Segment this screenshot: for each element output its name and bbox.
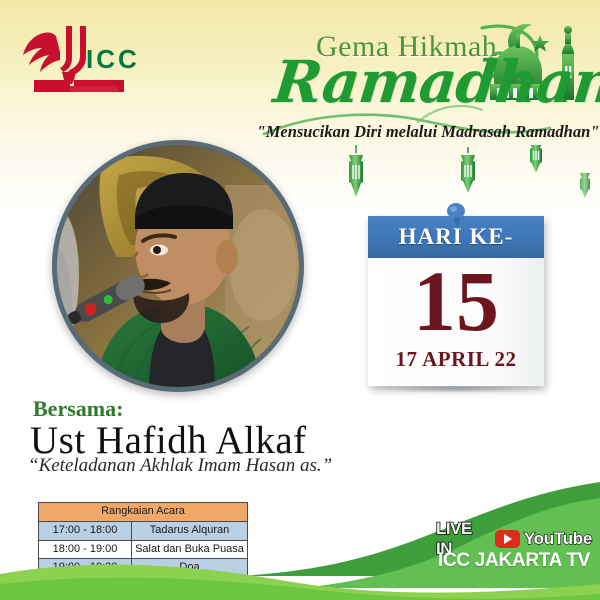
table-header-row: Rangkaian Acara <box>39 503 248 522</box>
calendar-body: 15 17 APRIL 22 <box>368 258 544 386</box>
table-row: 19:30 - selesai Ceramah <box>39 578 248 597</box>
icc-logo: ICC <box>16 22 140 98</box>
svg-text:ICC: ICC <box>86 44 140 74</box>
schedule-activity: Tadarus Alquran <box>132 521 248 540</box>
schedule-table: Rangkaian Acara 17:00 - 18:00 Tadarus Al… <box>38 502 248 597</box>
header-tagline: "Mensucikan Diri melalui Madrasah Ramadh… <box>256 122 600 142</box>
schedule-title: Rangkaian Acara <box>39 503 248 522</box>
table-row: 19:00 - 19:30 Doa <box>39 559 248 578</box>
youtube-label: YouTube <box>524 529 592 549</box>
schedule-time: 17:00 - 18:00 <box>39 521 132 540</box>
calendar-date-text: 17 APRIL 22 <box>368 347 544 372</box>
header-lockup: Gema Hikmah Ramadhan "Mensucikan Diri me… <box>252 4 600 156</box>
day-calendar: HARI KE- 15 17 APRIL 22 <box>368 216 544 386</box>
schedule-time: 19:00 - 19:30 <box>39 559 132 578</box>
youtube-play-icon <box>495 530 520 548</box>
pin-icon <box>445 202 467 228</box>
schedule-activity: Ceramah <box>132 578 248 597</box>
channel-name: ICC JAKARTA TV <box>436 550 592 572</box>
calendar-day-number: 15 <box>368 254 544 349</box>
schedule-activity: Doa <box>132 559 248 578</box>
schedule-activity: Salat dan Buka Puasa <box>132 540 248 559</box>
table-row: 17:00 - 18:00 Tadarus Alquran <box>39 521 248 540</box>
live-row: LIVE IN YouTube <box>436 528 592 550</box>
page-title: Ramadhan <box>270 48 600 116</box>
speaker-portrait <box>52 140 304 392</box>
live-stream-badge: LIVE IN YouTube ICC JAKARTA TV <box>436 528 592 576</box>
speaker-topic: “Keteladanan Akhlak Imam Hasan as.” <box>28 455 332 477</box>
table-row: 18:00 - 19:00 Salat dan Buka Puasa <box>39 540 248 559</box>
schedule-time: 18:00 - 19:00 <box>39 540 132 559</box>
schedule-time: 19:30 - selesai <box>39 578 132 597</box>
ramadhan-poster: ICC <box>0 0 600 600</box>
